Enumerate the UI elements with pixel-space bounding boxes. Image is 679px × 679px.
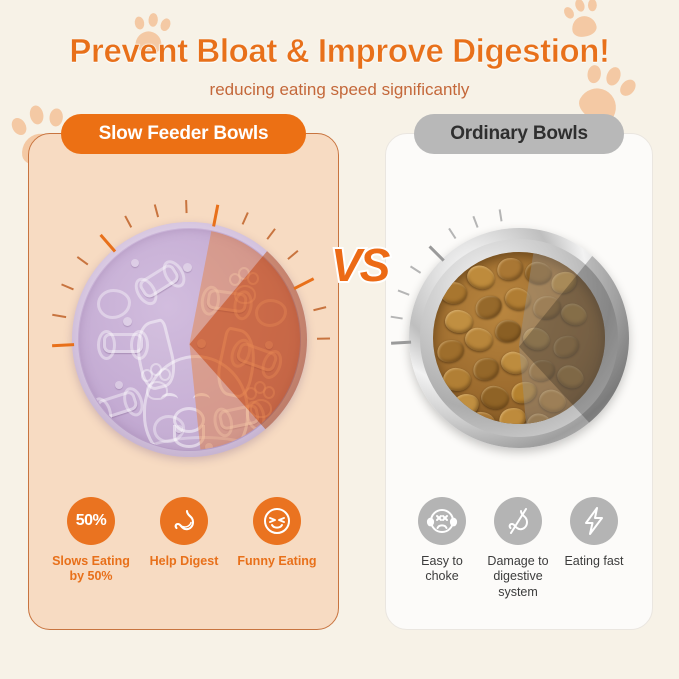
- feature-label: Damage to digestive system: [480, 554, 556, 600]
- slow-feeder-speed-ticks: [72, 222, 307, 457]
- feature-label: Slows Eating by 50%: [48, 554, 134, 585]
- ordinary-bowl-speed-ticks: [409, 228, 629, 448]
- feature-item: Funny Eating: [234, 497, 320, 585]
- ordinary-bowl-feature-list: Easy to choke Damage to digestive system…: [404, 497, 632, 600]
- feature-label: Easy to choke: [404, 554, 480, 585]
- feature-label: Funny Eating: [234, 554, 320, 569]
- feature-item: 50% Slows Eating by 50%: [48, 497, 134, 585]
- slow-feeder-pill: Slow Feeder Bowls: [61, 114, 306, 154]
- feature-item: Eating fast: [556, 497, 632, 600]
- vs-badge: VS: [331, 238, 388, 292]
- choking-face-icon: [418, 497, 466, 545]
- feature-item: Easy to choke: [404, 497, 480, 600]
- ordinary-bowl-pill: Ordinary Bowls: [414, 114, 624, 154]
- slow-feeder-feature-list: 50% Slows Eating by 50% Help Digest: [48, 497, 320, 585]
- feature-label: Eating fast: [556, 554, 632, 569]
- stomach-crossed-icon: [494, 497, 542, 545]
- feature-item: Help Digest: [141, 497, 227, 585]
- infographic-canvas: Prevent Bloat & Improve Digestion! reduc…: [0, 0, 679, 679]
- percent-50-icon: 50%: [67, 497, 115, 545]
- page-title: Prevent Bloat & Improve Digestion!: [0, 32, 679, 70]
- page-subtitle: reducing eating speed significantly: [0, 80, 679, 100]
- stomach-icon: [160, 497, 208, 545]
- happy-face-icon: [253, 497, 301, 545]
- lightning-bolt-icon: [570, 497, 618, 545]
- feature-label: Help Digest: [141, 554, 227, 569]
- feature-item: Damage to digestive system: [480, 497, 556, 600]
